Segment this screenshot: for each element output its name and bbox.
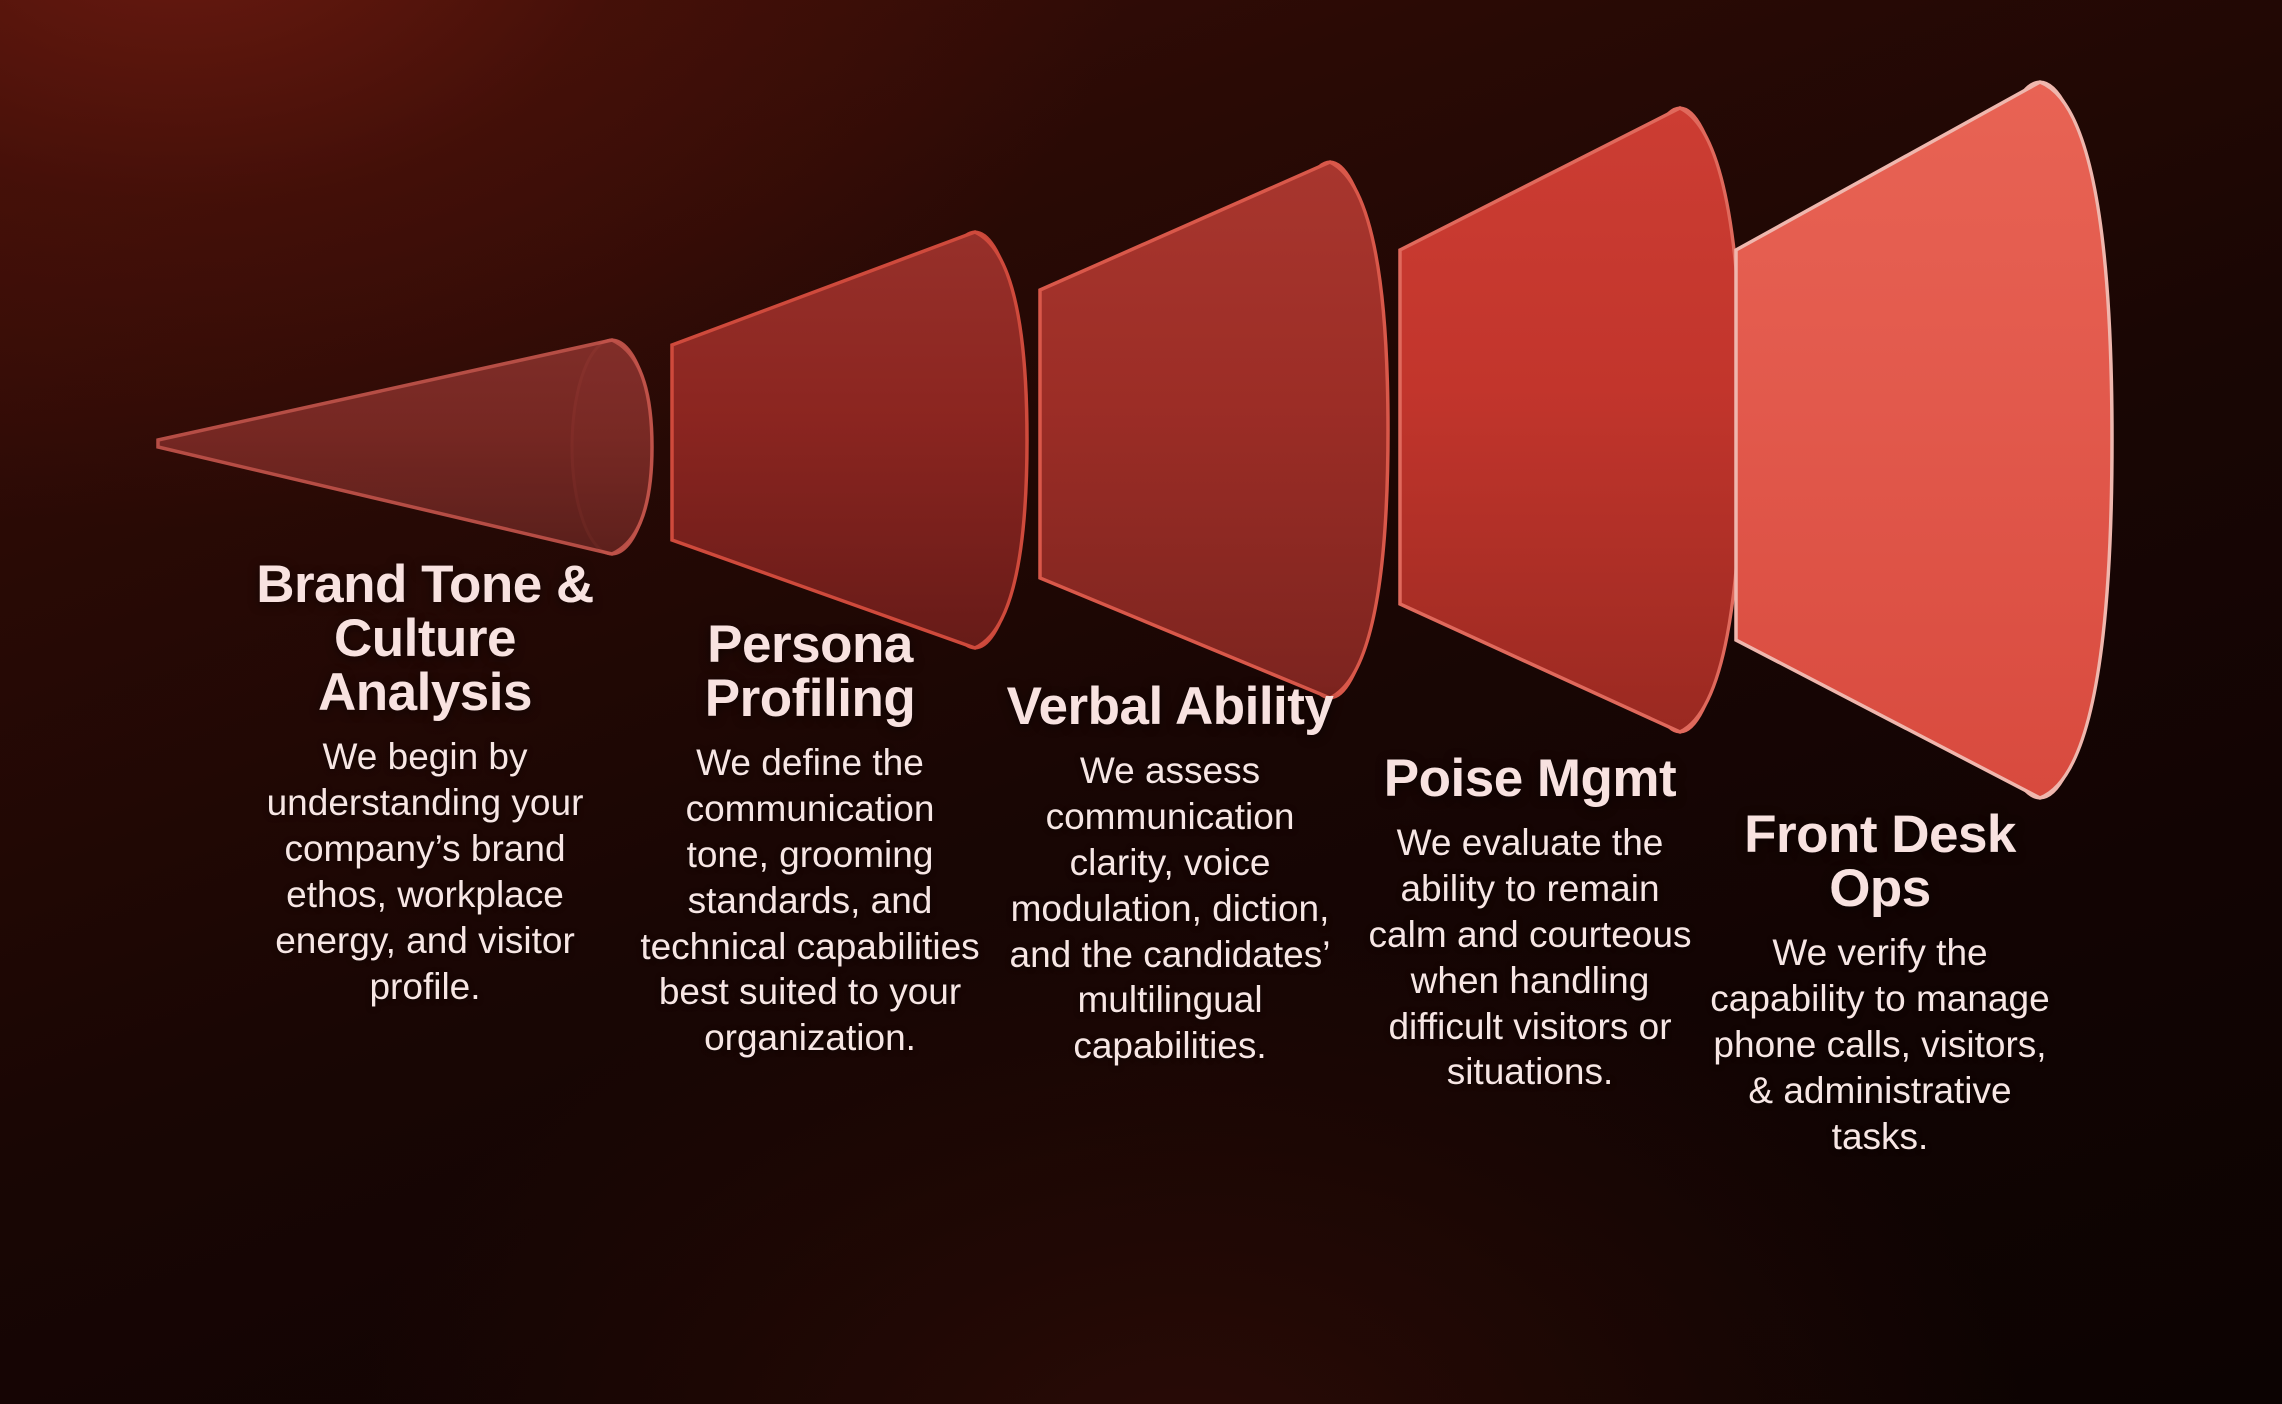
stage-description-front-desk-ops: We verify the capability to manage phone… (1710, 930, 2050, 1159)
stage-column-verbal-ability: Verbal Ability We assess communication c… (1000, 680, 1340, 1069)
stage-column-persona-profiling: Persona Profiling We define the communic… (640, 618, 980, 1061)
stage-column-front-desk-ops: Front Desk Ops We verify the capability … (1710, 808, 2050, 1159)
stage-title-brand-tone-culture-analysis: Brand Tone & Culture Analysis (255, 558, 595, 720)
stage-column-brand-tone-culture-analysis: Brand Tone & Culture Analysis We begin b… (255, 558, 595, 1009)
stage-description-verbal-ability: We assess communication clarity, voice m… (1000, 748, 1340, 1069)
stage-columns: Brand Tone & Culture Analysis We begin b… (0, 0, 2282, 1404)
stage-description-poise-mgmt: We evaluate the ability to remain calm a… (1360, 820, 1700, 1095)
stage-column-poise-mgmt: Poise Mgmt We evaluate the ability to re… (1360, 752, 1700, 1095)
stage-description-brand-tone-culture-analysis: We begin by understanding your company’s… (255, 734, 595, 1009)
stage-title-persona-profiling: Persona Profiling (640, 618, 980, 726)
stage-title-verbal-ability: Verbal Ability (1007, 680, 1334, 734)
stage-title-poise-mgmt: Poise Mgmt (1384, 752, 1676, 806)
stage-description-persona-profiling: We define the communication tone, groomi… (640, 740, 980, 1061)
infographic-canvas: Brand Tone & Culture Analysis We begin b… (0, 0, 2282, 1404)
stage-title-front-desk-ops: Front Desk Ops (1710, 808, 2050, 916)
